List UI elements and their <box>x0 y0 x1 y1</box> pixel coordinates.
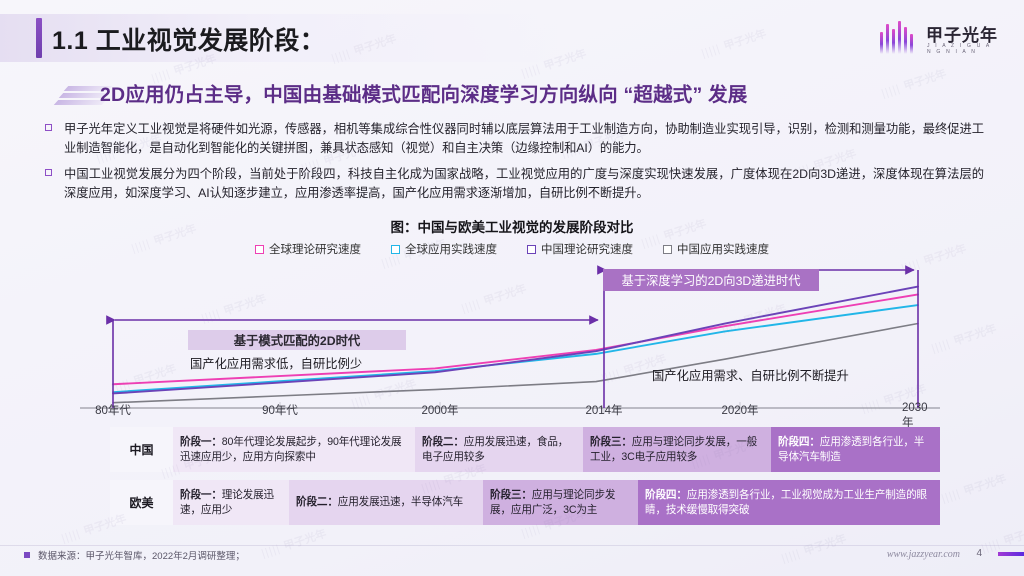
cell-stage-label: 阶段四： <box>778 436 820 448</box>
watermark: ||||| 甲子光年 <box>879 65 948 101</box>
x-tick-label: 2014年 <box>585 402 622 418</box>
page-subtitle: 2D应用仍占主导，中国由基础模式匹配向深度学习方向纵向 “超越式” 发展 <box>100 78 747 107</box>
chart-x-axis-labels: 80年代 90年代 2000年 2014年 2020年 2030年 <box>80 402 950 420</box>
table-cell: 阶段二：应用发展迅速，半导体汽车 <box>289 480 483 525</box>
title-accent-bar <box>36 18 42 58</box>
legend-label: 全球理论研究速度 <box>269 241 361 257</box>
annotation-era-2d-box: 基于模式匹配的2D时代 <box>188 330 406 350</box>
page-number: 4 <box>976 548 982 559</box>
x-tick-label: 2020年 <box>721 402 758 418</box>
watermark: ||||| 甲子光年 <box>939 470 1008 506</box>
cell-stage-label: 阶段二： <box>422 436 464 448</box>
table-cell: 阶段一：80年代理论发展起步，90年代理论发展迅速应用少，应用方向探索中 <box>173 427 415 472</box>
website-url: www.jazzyear.com <box>887 549 960 560</box>
bullet-list: 甲子光年定义工业视觉是将硬件如光源，传感器，相机等集成综合性仪器同时辅以底层算法… <box>44 120 984 210</box>
page-title: 1.1 工业视觉发展阶段： <box>52 21 325 57</box>
table-cell: 阶段一：理论发展迅速，应用少 <box>173 480 289 525</box>
source-text: 数据来源：甲子光年智库，2022年2月调研整理； <box>38 548 245 562</box>
legend-label: 中国应用实践速度 <box>677 241 769 257</box>
cell-stage-label: 阶段一： <box>180 489 222 501</box>
chart-title: 图：中国与欧美工业视觉的发展阶段对比 <box>0 216 1024 236</box>
bullet-item: 甲子光年定义工业视觉是将硬件如光源，传感器，相机等集成综合性仪器同时辅以底层算法… <box>44 120 984 158</box>
x-tick-label: 2030年 <box>902 402 934 430</box>
logo-subtext: J I A Z I G U A N G N I A N <box>927 43 998 55</box>
legend-swatch-icon <box>527 245 536 254</box>
source-bullet-icon <box>24 552 30 558</box>
watermark: ||||| 甲子光年 <box>699 25 768 61</box>
table-row: 中国 阶段一：80年代理论发展起步，90年代理论发展迅速应用少，应用方向探索中 … <box>110 427 940 472</box>
cell-stage-label: 阶段二： <box>296 496 338 508</box>
bullet-text: 甲子光年定义工业视觉是将硬件如光源，传感器，相机等集成综合性仪器同时辅以底层算法… <box>64 120 984 158</box>
cell-stage-label: 阶段三： <box>590 436 632 448</box>
cell-text: 应用渗透到各行业，工业视觉成为工业生产制造的眼睛，技术缓慢取得突破 <box>645 489 927 515</box>
table-cell: 阶段二：应用发展迅速，食品，电子应用较多 <box>415 427 583 472</box>
x-tick-label: 80年代 <box>95 402 131 418</box>
annotation-era-3d-box: 基于深度学习的2D向3D递进时代 <box>603 269 819 291</box>
legend-item-global-application: 全球应用实践速度 <box>391 241 497 257</box>
x-tick-label: 90年代 <box>262 402 298 418</box>
annotation-era-2d-note: 国产化应用需求低，自研比例少 <box>190 354 362 372</box>
legend-swatch-icon <box>255 245 264 254</box>
row-header-europe-america: 欧美 <box>110 480 173 525</box>
bullet-item: 中国工业视觉发展分为四个阶段，当前处于阶段四，科技自主化成为国家战略，工业视觉应… <box>44 165 984 203</box>
chart-legend: 全球理论研究速度 全球应用实践速度 中国理论研究速度 中国应用实践速度 <box>0 241 1024 257</box>
legend-swatch-icon <box>391 245 400 254</box>
annotation-era-3d-note: 国产化应用需求、自研比例不断提升 <box>652 366 849 384</box>
cell-text: 应用发展迅速，半导体汽车 <box>338 496 463 508</box>
table-row: 欧美 阶段一：理论发展迅速，应用少 阶段二：应用发展迅速，半导体汽车 阶段三：应… <box>110 480 940 525</box>
cell-stage-label: 阶段四： <box>645 489 687 501</box>
x-tick-label: 2000年 <box>421 402 458 418</box>
cell-stage-label: 阶段一： <box>180 436 222 448</box>
footer-divider <box>0 545 1024 546</box>
legend-item-global-theory: 全球理论研究速度 <box>255 241 361 257</box>
legend-swatch-icon <box>663 245 672 254</box>
legend-label: 中国理论研究速度 <box>541 241 633 257</box>
table-cell: 阶段三：应用与理论同步发展，一般工业，3C电子应用较多 <box>583 427 771 472</box>
bullet-text: 中国工业视觉发展分为四个阶段，当前处于阶段四，科技自主化成为国家战略，工业视觉应… <box>64 165 984 203</box>
table-cell: 阶段四：应用渗透到各行业，半导体汽车制造 <box>771 427 940 472</box>
legend-label: 全球应用实践速度 <box>405 241 497 257</box>
watermark: ||||| 甲子光年 <box>979 520 1024 556</box>
watermark: ||||| 甲子光年 <box>779 530 848 566</box>
legend-item-china-application: 中国应用实践速度 <box>663 241 769 257</box>
legend-item-china-theory: 中国理论研究速度 <box>527 241 633 257</box>
table-cell: 阶段三：应用与理论同步发展，应用广泛，3C为主 <box>483 480 638 525</box>
cell-stage-label: 阶段三： <box>490 489 532 501</box>
stage-comparison-table: 中国 阶段一：80年代理论发展起步，90年代理论发展迅速应用少，应用方向探索中 … <box>110 427 940 533</box>
page-accent-bar <box>998 552 1024 556</box>
logo-bars-icon <box>880 20 918 54</box>
bullet-square-icon <box>45 169 52 176</box>
data-source: 数据来源：甲子光年智库，2022年2月调研整理； <box>24 548 245 562</box>
table-cell: 阶段四：应用渗透到各行业，工业视觉成为工业生产制造的眼睛，技术缓慢取得突破 <box>638 480 940 525</box>
bullet-square-icon <box>45 124 52 131</box>
brand-logo: 甲子光年 J I A Z I G U A N G N I A N <box>880 18 998 60</box>
row-header-china: 中国 <box>110 427 173 472</box>
